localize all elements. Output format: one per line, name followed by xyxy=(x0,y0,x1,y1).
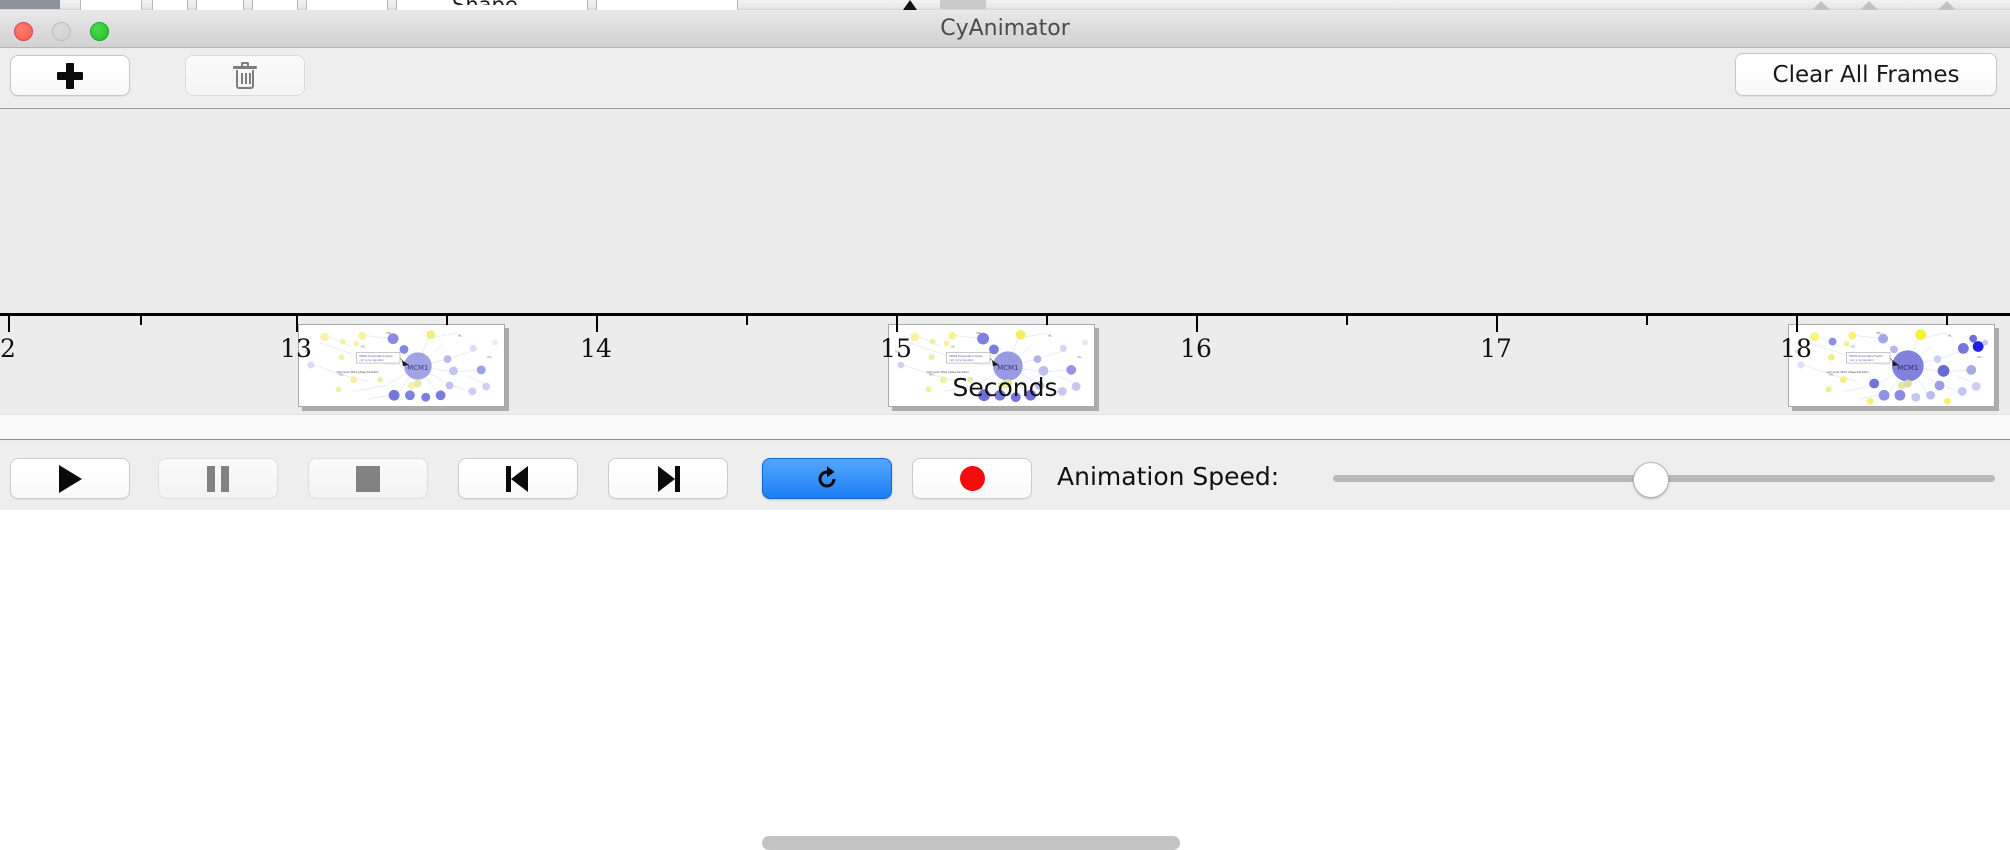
trash-icon xyxy=(233,62,257,90)
window-title: CyAnimator xyxy=(0,10,2010,48)
svg-text:MCM1 transcription factor: MCM1 transcription factor xyxy=(359,354,393,358)
clear-all-frames-label: Clear All Frames xyxy=(1773,62,1960,88)
axis-tick xyxy=(1346,316,1348,325)
axis-tick xyxy=(140,316,142,325)
stop-icon xyxy=(356,466,380,492)
plus-icon xyxy=(57,63,83,89)
axis-tick xyxy=(296,316,298,332)
skip-forward-icon xyxy=(656,466,680,492)
svg-text:YLR..: YLR.. xyxy=(950,345,956,348)
add-frame-button[interactable] xyxy=(10,55,130,96)
cyanimator-window: Shape CyAnimator Clear All Frames xyxy=(0,0,2010,510)
axis-tick-label: 15 xyxy=(880,334,912,363)
axis-tick-label: 18 xyxy=(1780,334,1812,363)
svg-text:YGL..: YGL.. xyxy=(1977,356,1983,359)
axis-tick-label: 17 xyxy=(1480,334,1512,363)
svg-text:cell cycle regulator: cell cycle regulator xyxy=(949,358,974,362)
axis-tick-label: 16 xyxy=(1180,334,1212,363)
axis-tick xyxy=(746,316,748,325)
axis-tick xyxy=(1946,316,1948,325)
record-button[interactable] xyxy=(912,458,1032,499)
record-icon xyxy=(960,466,985,491)
svg-text:MCM1: MCM1 xyxy=(997,364,1018,372)
axis-tick xyxy=(1646,316,1648,325)
axis-tick xyxy=(1496,316,1498,332)
pause-button[interactable] xyxy=(158,458,278,499)
skip-back-icon xyxy=(506,466,530,492)
svg-text:cell cycle regulator: cell cycle regulator xyxy=(1849,358,1874,362)
svg-text:YNL..: YNL.. xyxy=(457,335,463,338)
svg-text:YNL..: YNL.. xyxy=(1947,335,1953,338)
svg-text:cell cycle regulator: cell cycle regulator xyxy=(359,358,384,362)
timeline-axis-line xyxy=(0,313,2010,316)
play-icon xyxy=(59,465,82,493)
skip-start-button[interactable] xyxy=(458,458,578,499)
svg-text:YBR..: YBR.. xyxy=(386,332,392,335)
axis-title: Seconds xyxy=(0,373,2010,402)
svg-text:YLR..: YLR.. xyxy=(360,345,366,348)
axis-tick xyxy=(596,316,598,332)
animation-speed-slider-thumb[interactable] xyxy=(1633,462,1669,498)
loop-button[interactable] xyxy=(762,458,892,499)
background-window-label: Shape xyxy=(452,0,518,5)
axis-tick xyxy=(1046,316,1048,325)
svg-text:YGL..: YGL.. xyxy=(1077,356,1083,359)
delete-frame-button[interactable] xyxy=(185,55,305,96)
svg-text:YBR..: YBR.. xyxy=(1876,332,1882,335)
clear-all-frames-button[interactable]: Clear All Frames xyxy=(1735,53,1997,96)
svg-text:YGL..: YGL.. xyxy=(487,356,493,359)
svg-text:YLR..: YLR.. xyxy=(1850,345,1856,348)
loop-icon xyxy=(812,464,842,494)
axis-tick-label: 14 xyxy=(580,334,612,363)
axis-tick xyxy=(1796,316,1798,332)
axis-tick-label: 13 xyxy=(280,334,312,363)
background-cursor-wedge xyxy=(903,0,917,10)
timeline-panel[interactable]: MCM1 xyxy=(0,109,2010,414)
svg-text:MCM1 transcription factor: MCM1 transcription factor xyxy=(949,354,983,358)
stop-button[interactable] xyxy=(308,458,428,499)
pause-icon xyxy=(207,466,229,492)
background-window-strip: Shape xyxy=(0,0,2010,10)
timeline-scrollbar-thumb[interactable] xyxy=(762,836,1180,850)
axis-tick-label: 2 xyxy=(0,334,16,363)
svg-text:MCM1: MCM1 xyxy=(407,364,428,372)
animation-speed-label: Animation Speed: xyxy=(1057,462,1279,491)
skip-end-button[interactable] xyxy=(608,458,728,499)
svg-text:YBR..: YBR.. xyxy=(976,332,982,335)
svg-text:MCM1 transcription factor: MCM1 transcription factor xyxy=(1849,354,1883,358)
axis-tick xyxy=(1196,316,1198,332)
svg-text:MCM1: MCM1 xyxy=(1897,364,1918,372)
timeline-scrollbar[interactable] xyxy=(0,414,2010,440)
play-button[interactable] xyxy=(10,458,130,499)
axis-tick xyxy=(896,316,898,332)
title-bar: CyAnimator xyxy=(0,10,2010,48)
svg-text:YNL..: YNL.. xyxy=(1047,335,1053,338)
axis-tick xyxy=(446,316,448,325)
axis-tick xyxy=(8,316,10,332)
